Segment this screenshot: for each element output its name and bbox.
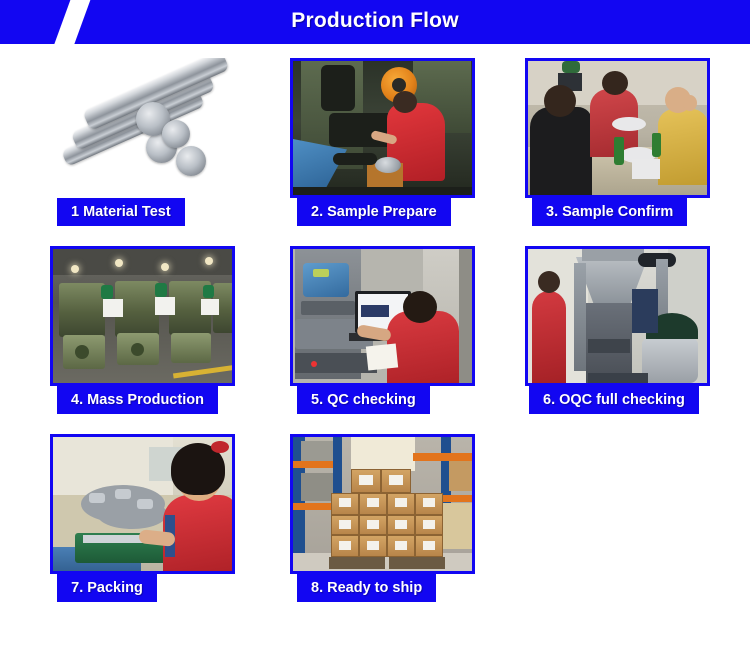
steel-bars-photo bbox=[50, 58, 235, 198]
flow-row-3: 7. Packing bbox=[0, 426, 750, 614]
flow-step-2-caption: 2. Sample Prepare bbox=[297, 198, 451, 226]
flow-step-6[interactable]: 6. OQC full checking bbox=[505, 238, 735, 426]
page-title: Production Flow bbox=[0, 0, 750, 44]
flow-step-4[interactable]: 4. Mass Production bbox=[30, 238, 260, 426]
flow-step-7-caption: 7. Packing bbox=[57, 574, 157, 602]
flow-row-2: 4. Mass Production bbox=[0, 238, 750, 426]
flow-step-1-caption: 1 Material Test bbox=[57, 198, 185, 226]
flow-step-8[interactable]: 8. Ready to ship bbox=[270, 426, 500, 614]
flow-step-8-caption: 8. Ready to ship bbox=[297, 574, 436, 602]
flow-step-4-caption: 4. Mass Production bbox=[57, 386, 218, 414]
production-machines-photo bbox=[50, 246, 235, 386]
warehouse-cartons-photo bbox=[290, 434, 475, 574]
flow-step-3-caption: 3. Sample Confirm bbox=[532, 198, 687, 226]
flow-step-5[interactable]: 5. QC checking bbox=[270, 238, 500, 426]
flow-step-6-caption: 6. OQC full checking bbox=[529, 386, 699, 414]
punch-press-operator-photo bbox=[290, 58, 475, 198]
flow-step-7[interactable]: 7. Packing bbox=[30, 426, 260, 614]
oqc-sorting-machine-photo bbox=[525, 246, 710, 386]
production-flow-grid: 1 Material Test bbox=[0, 50, 750, 614]
flow-step-1[interactable]: 1 Material Test bbox=[30, 50, 260, 238]
qc-laptop-inspection-photo bbox=[290, 246, 475, 386]
packing-sealing-photo bbox=[50, 434, 235, 574]
flow-step-3[interactable]: 3. Sample Confirm bbox=[505, 50, 735, 238]
page-header: Production Flow bbox=[0, 0, 750, 44]
flow-step-5-caption: 5. QC checking bbox=[297, 386, 430, 414]
flow-row-1: 1 Material Test bbox=[0, 50, 750, 238]
flow-step-2[interactable]: 2. Sample Prepare bbox=[270, 50, 500, 238]
sample-confirm-meeting-photo bbox=[525, 58, 710, 198]
